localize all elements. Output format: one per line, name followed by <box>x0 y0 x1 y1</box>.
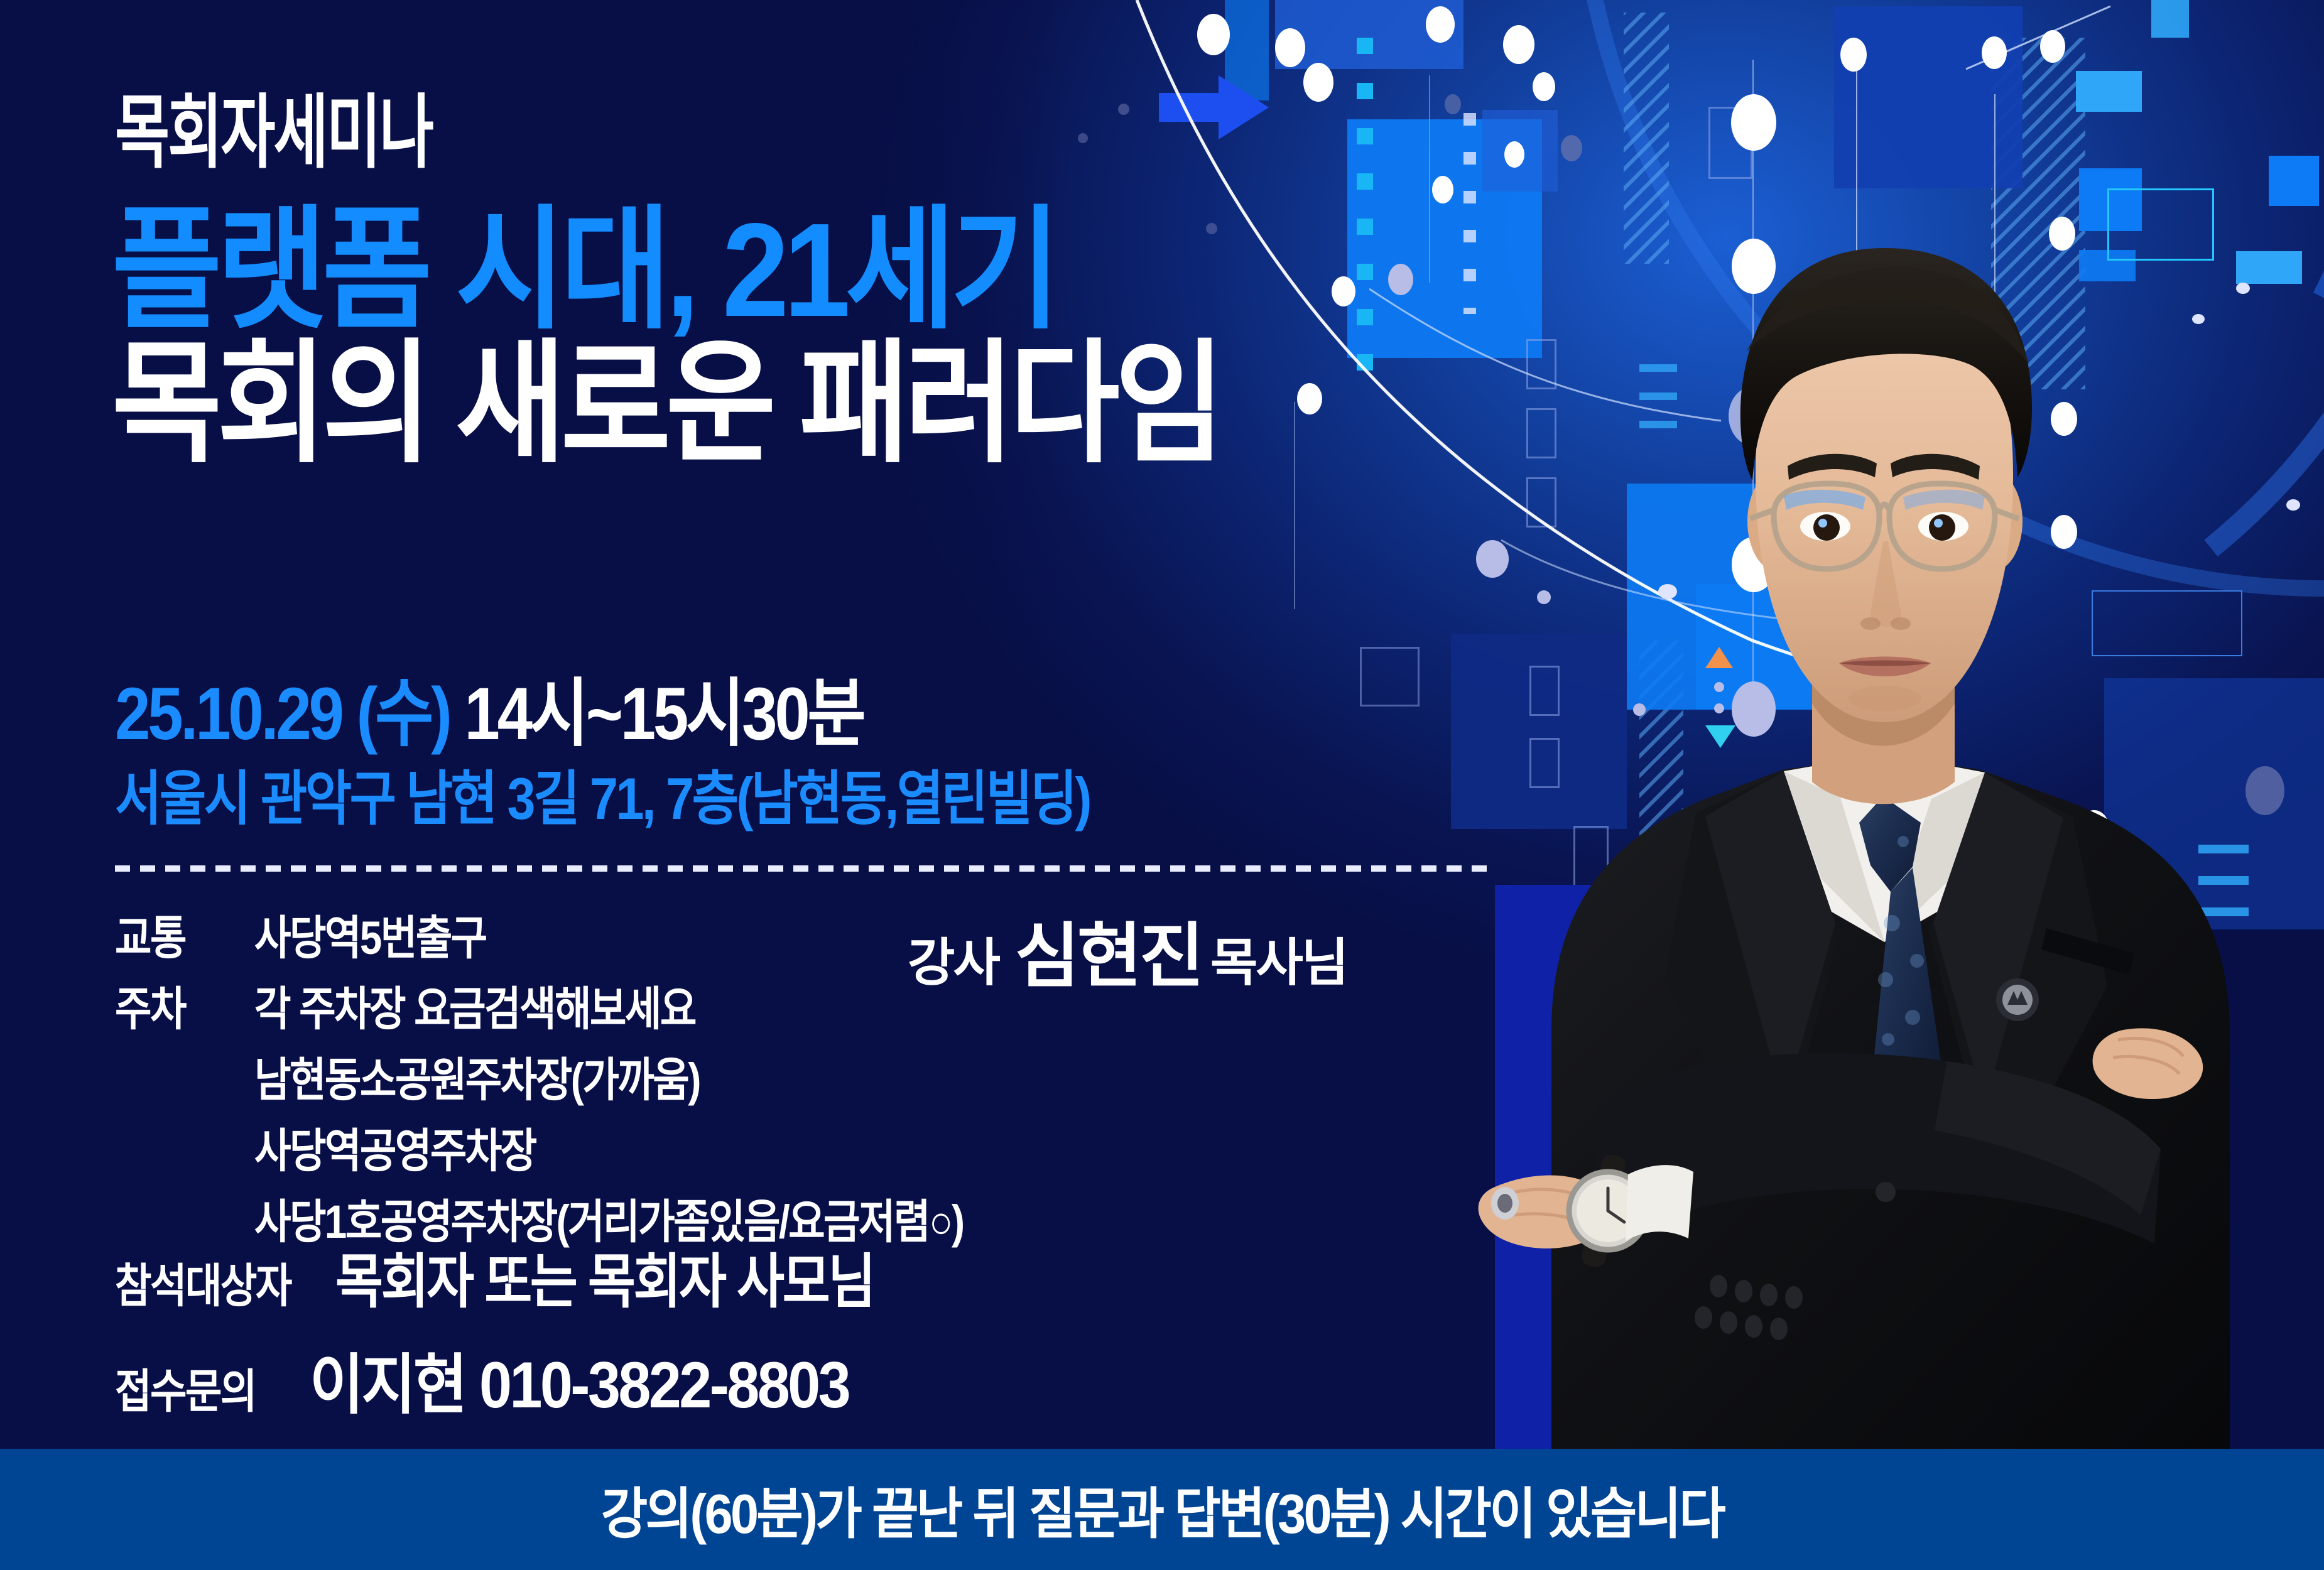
event-time: 14시~15시30분 <box>464 673 863 755</box>
seminar-poster: 목회자세미나 플랫폼 시대, 21세기 목회의 새로운 패러다임 25.10.2… <box>0 0 2324 1570</box>
event-address: 서울시 관악구 남현 3길 71, 7층(남현동,열린빌딩) <box>115 751 1090 836</box>
title-paradigm: 목회의 새로운 패러다임 <box>112 341 1497 466</box>
speaker-suffix: 목사님 <box>1210 934 1347 992</box>
audience-label: 참석대상자 <box>115 1248 291 1316</box>
poster-kicker: 목회자세미나 <box>115 93 432 173</box>
title-era: 시대, 21세기 <box>455 195 1056 344</box>
parking-value: 각 주차장 요금검색해보세요 <box>254 972 695 1039</box>
transport-value: 사당역5번출구 <box>254 901 486 968</box>
audience-value: 목회자 또는 목회자 사모님 <box>335 1234 874 1319</box>
title-platform: 플랫폼 <box>112 195 427 344</box>
event-datetime: 25.10.29 (수) 14시~15시30분 <box>115 653 863 761</box>
parking-label: 주차 <box>115 972 235 1039</box>
poster-title: 플랫폼 시대, 21세기 목회의 새로운 패러다임 <box>112 207 1651 467</box>
speaker-label: 강사 <box>908 934 999 992</box>
speaker-name: 심현진 <box>1015 917 1202 995</box>
title-line-1: 플랫폼 시대, 21세기 <box>112 207 1651 332</box>
footer-note: 강의(60분)가 끝난 뒤 질문과 답변(30분) 시간이 있습니다 <box>600 1470 1723 1549</box>
speaker-info: 강사심현진목사님 <box>908 899 1347 1001</box>
contact-value[interactable]: 이지현 010-3822-8803 <box>310 1331 849 1426</box>
parking-list: 남현동소공원주차장(가까움) 사당역공영주차장 사당1호공영주차장(거리가좀있음… <box>254 1042 1078 1252</box>
transport-label: 교통 <box>115 901 235 968</box>
title-line-2: 목회의 새로운 패러다임 <box>112 341 1651 466</box>
section-divider <box>115 865 1497 872</box>
audience-info: 참석대상자 목회자 또는 목회자 사모님 <box>115 1234 947 1319</box>
contact-info[interactable]: 접수문의 이지현 010-3822-8803 <box>115 1331 909 1426</box>
event-date: 25.10.29 (수) <box>115 673 450 755</box>
footer-banner: 강의(60분)가 끝난 뒤 질문과 답변(30분) 시간이 있습니다 <box>0 1449 2324 1570</box>
contact-label: 접수문의 <box>115 1354 256 1421</box>
poster-content: 목회자세미나 플랫폼 시대, 21세기 목회의 새로운 패러다임 25.10.2… <box>0 0 2324 1570</box>
parking-list-item: 남현동소공원주차장(가까움) <box>254 1042 963 1110</box>
parking-list-item: 사당역공영주차장 <box>254 1113 963 1181</box>
